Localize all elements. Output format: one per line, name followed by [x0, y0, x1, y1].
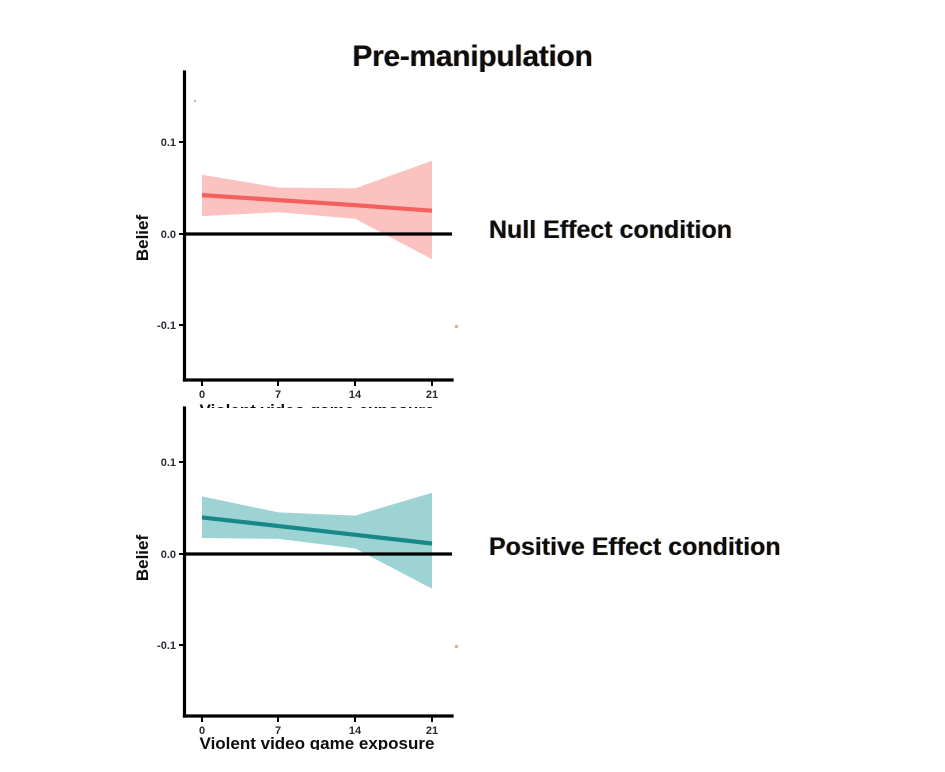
y-axis-title: Belief	[133, 535, 152, 582]
scan-speck	[455, 645, 458, 648]
figure-canvas: Pre-manipulation 0.1 0.0 -0.1	[0, 0, 945, 772]
y-tick-label: 0.0	[161, 549, 176, 561]
condition-label-null-effect: Null Effect condition	[489, 216, 732, 245]
y-tick-label: 0.1	[161, 457, 176, 469]
y-tick-label: -0.1	[157, 640, 176, 652]
panel-positive-effect: 0.1 0.0 -0.1 0 7 14 21 Belief Violent vi…	[0, 380, 480, 750]
y-tick-label: -0.1	[157, 320, 176, 332]
chart-positive-effect: 0.1 0.0 -0.1 0 7 14 21 Belief Violent vi…	[0, 380, 480, 750]
y-tick-label: 0.1	[161, 137, 176, 149]
y-tick-label: 0.0	[161, 229, 176, 241]
x-axis-title: Violent video game exposure	[200, 734, 435, 750]
condition-label-positive-effect: Positive Effect condition	[489, 533, 781, 562]
panel-null-effect: 0.1 0.0 -0.1 0 7 14 21 Belief Violent vi…	[0, 60, 480, 420]
chart-null-effect: 0.1 0.0 -0.1 0 7 14 21 Belief Violent vi…	[0, 60, 480, 420]
scan-speck	[194, 100, 196, 102]
y-axis-title: Belief	[133, 215, 152, 262]
scan-speck	[455, 325, 458, 328]
